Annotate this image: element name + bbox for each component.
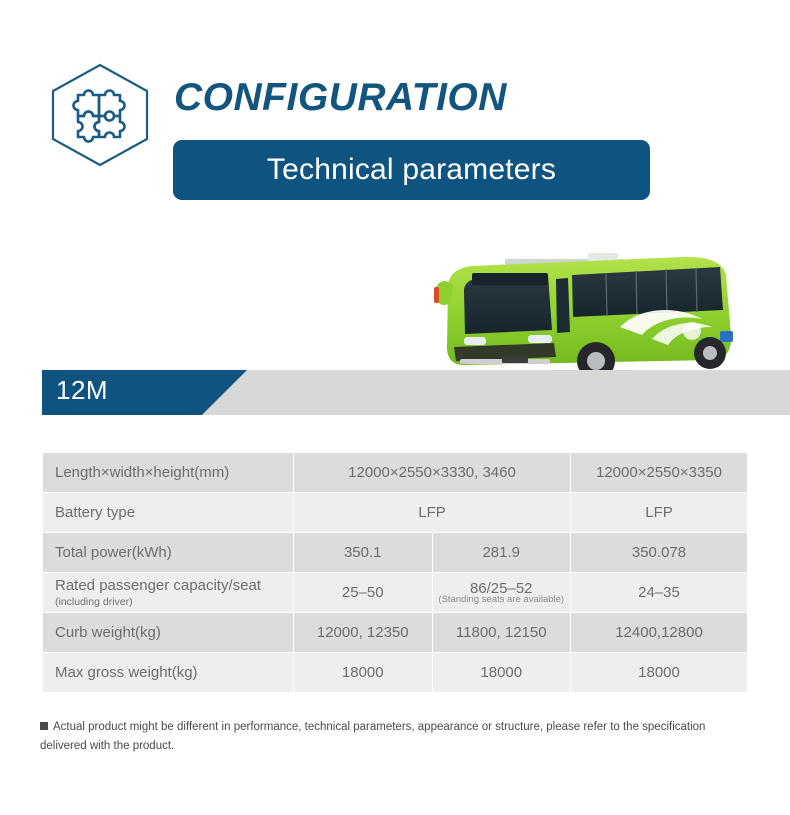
value-cell-b: 86/25–52 (Standing seats are available) — [432, 573, 571, 613]
value-cell-a: 12000, 12350 — [294, 613, 433, 653]
table-row: Battery type LFP LFP — [43, 493, 748, 533]
row-label: Total power(kWh) — [55, 544, 293, 561]
square-bullet-icon — [40, 722, 48, 730]
value-cell-merged: LFP — [294, 493, 571, 533]
value-text: 350.1 — [294, 544, 432, 561]
table-row: Max gross weight(kg) 18000 18000 18000 — [43, 653, 748, 693]
table-row: Total power(kWh) 350.1 281.9 350.078 — [43, 533, 748, 573]
hero-section: 12M — [0, 225, 790, 425]
value-cell-a: 350.1 — [294, 533, 433, 573]
row-label-cell: Battery type — [43, 493, 294, 533]
row-label: Curb weight(kg) — [55, 624, 293, 641]
row-label-cell: Max gross weight(kg) — [43, 653, 294, 693]
value-cell-b: 11800, 12150 — [432, 613, 571, 653]
value-cell-a: 25–50 — [294, 573, 433, 613]
row-label: Length×width×height(mm) — [55, 464, 293, 481]
value-cell-c: 24–35 — [571, 573, 748, 613]
row-label: Max gross weight(kg) — [55, 664, 293, 681]
value-cell-c: LFP — [571, 493, 748, 533]
table-row: Curb weight(kg) 12000, 12350 11800, 1215… — [43, 613, 748, 653]
value-text: LFP — [571, 504, 747, 521]
row-label-cell: Rated passenger capacity/seat (including… — [43, 573, 294, 613]
row-label: Battery type — [55, 504, 293, 521]
value-text: 18000 — [433, 664, 571, 681]
technical-parameters-button[interactable]: Technical parameters — [173, 140, 650, 200]
row-label-cell: Length×width×height(mm) — [43, 453, 294, 493]
value-text: 18000 — [571, 664, 747, 681]
value-text: 12000, 12350 — [294, 624, 432, 641]
value-text: 12000×2550×3330, 3460 — [294, 464, 570, 481]
footnote-text: Actual product might be different in per… — [40, 721, 705, 752]
technical-parameters-label: Technical parameters — [267, 153, 556, 187]
page-header: CONFIGURATION Technical parameters — [0, 0, 790, 230]
table-row: Rated passenger capacity/seat (including… — [43, 573, 748, 613]
value-text: 281.9 — [433, 544, 571, 561]
technical-parameters-table: Length×width×height(mm) 12000×2550×3330,… — [42, 452, 748, 693]
value-text: 12400,12800 — [571, 624, 747, 641]
row-label-cell: Curb weight(kg) — [43, 613, 294, 653]
value-text: 18000 — [294, 664, 432, 681]
table-row: Length×width×height(mm) 12000×2550×3330,… — [43, 453, 748, 493]
value-text: LFP — [294, 504, 570, 521]
value-text: 25–50 — [294, 584, 432, 601]
value-cell-c: 350.078 — [571, 533, 748, 573]
value-text: 24–35 — [571, 584, 747, 601]
value-cell-c: 12400,12800 — [571, 613, 748, 653]
row-label-cell: Total power(kWh) — [43, 533, 294, 573]
value-cell-merged: 12000×2550×3330, 3460 — [294, 453, 571, 493]
value-cell-c: 18000 — [571, 653, 748, 693]
value-cell-a: 18000 — [294, 653, 433, 693]
row-label-note: (including driver) — [55, 596, 293, 608]
footnote: Actual product might be different in per… — [40, 718, 755, 756]
value-cell-b: 281.9 — [432, 533, 571, 573]
value-text: 350.078 — [571, 544, 747, 561]
row-label: Rated passenger capacity/seat — [55, 577, 293, 594]
puzzle-hexagon-icon — [48, 62, 152, 168]
value-text: 12000×2550×3350 — [571, 464, 747, 481]
model-tag-label: 12M — [56, 375, 108, 406]
value-cell-c: 12000×2550×3350 — [571, 453, 748, 493]
value-note: (Standing seats are available) — [433, 595, 571, 605]
value-text: 11800, 12150 — [433, 624, 571, 641]
value-cell-b: 18000 — [432, 653, 571, 693]
page-title: CONFIGURATION — [174, 76, 507, 120]
